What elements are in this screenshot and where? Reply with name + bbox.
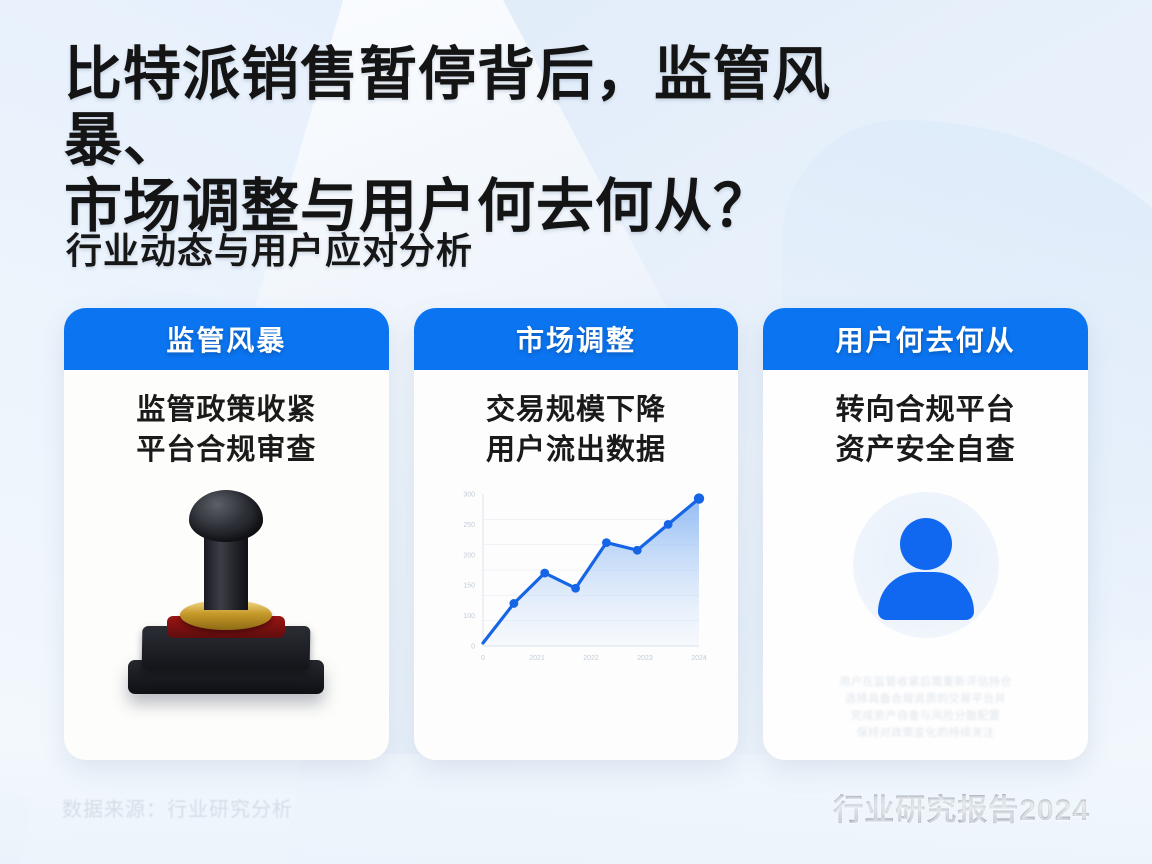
- card-body-3: 转向合规平台 资产安全自查 用户在监管收紧后需重新评估持仓 选择具备合规资质的交…: [763, 370, 1088, 760]
- footer-report-label: 行业研究报告2024: [833, 785, 1090, 829]
- blurb-line-3: 完成资产自查与风险分散配置: [781, 708, 1070, 725]
- svg-text:0: 0: [481, 655, 485, 662]
- card-body-2: 交易规模下降 用户流出数据: [414, 370, 739, 760]
- svg-text:100: 100: [463, 613, 475, 620]
- svg-text:200: 200: [463, 552, 475, 559]
- svg-text:300: 300: [463, 492, 475, 499]
- chart-point: [602, 538, 611, 547]
- chart-point: [571, 584, 580, 593]
- blurb-line-1: 用户在监管收紧后需重新评估持仓: [781, 674, 1070, 691]
- card-user-direction[interactable]: 用户何去何从 转向合规平台 资产安全自查 用户在监管收紧后需重新评估持仓 选择具…: [763, 308, 1088, 760]
- card-2-line-2: 用户流出数据: [486, 430, 666, 470]
- card-regulatory-storm[interactable]: 监管风暴 监管政策收紧 平台合规审查: [64, 308, 389, 760]
- blurb-line-2: 选择具备合规资质的交易平台并: [781, 691, 1070, 708]
- svg-text:250: 250: [463, 522, 475, 529]
- card-market-adjustment[interactable]: 市场调整 交易规模下降 用户流出数据: [414, 308, 739, 760]
- svg-text:150: 150: [463, 583, 475, 590]
- chart-point: [633, 546, 642, 555]
- stamp-seal-icon: [111, 484, 341, 699]
- chart-point: [664, 520, 673, 529]
- page-title-line1: 比特派销售暂停背后，监管风暴、: [64, 42, 831, 173]
- user-avatar-icon: [846, 492, 1006, 642]
- chart-point: [540, 569, 549, 578]
- slide-root: 比特派销售暂停背后，监管风暴、 市场调整与用户何去何从？ 行业动态与用户应对分析…: [0, 0, 1152, 864]
- svg-text:2024: 2024: [691, 655, 707, 662]
- card-3-blurb: 用户在监管收紧后需重新评估持仓 选择具备合规资质的交易平台并 完成资产自查与风险…: [781, 674, 1070, 742]
- card-3-line-1: 转向合规平台: [836, 390, 1016, 430]
- card-body-1: 监管政策收紧 平台合规审查: [64, 370, 389, 760]
- card-2-line-1: 交易规模下降: [486, 390, 666, 430]
- page-subtitle: 行业动态与用户应对分析: [66, 222, 473, 274]
- card-header-1: 监管风暴: [64, 308, 389, 370]
- chart-svg: 0100150200250300 02021202220232024: [441, 480, 711, 685]
- chart-point: [509, 599, 518, 608]
- page-title: 比特派销售暂停背后，监管风暴、 市场调整与用户何去何从？: [64, 42, 944, 240]
- card-group: 监管风暴 监管政策收紧 平台合规审查 市场调整 交易规模下降 用户流出数据: [64, 308, 1088, 768]
- card-header-3: 用户何去何从: [763, 308, 1088, 370]
- card-header-2: 市场调整: [414, 308, 739, 370]
- svg-text:2023: 2023: [637, 655, 653, 662]
- line-chart-graphic: 0100150200250300 02021202220232024: [441, 480, 711, 685]
- svg-text:2022: 2022: [583, 655, 599, 662]
- svg-text:0: 0: [471, 644, 475, 651]
- card-3-line-2: 资产安全自查: [836, 430, 1016, 470]
- blurb-line-4: 保持对政策变化的持续关注: [781, 725, 1070, 742]
- chart-point: [694, 493, 704, 503]
- footer-source: 数据来源：行业研究分析: [62, 793, 293, 822]
- card-1-line-1: 监管政策收紧: [136, 390, 316, 430]
- card-1-line-2: 平台合规审查: [136, 430, 316, 470]
- svg-text:2021: 2021: [529, 655, 545, 662]
